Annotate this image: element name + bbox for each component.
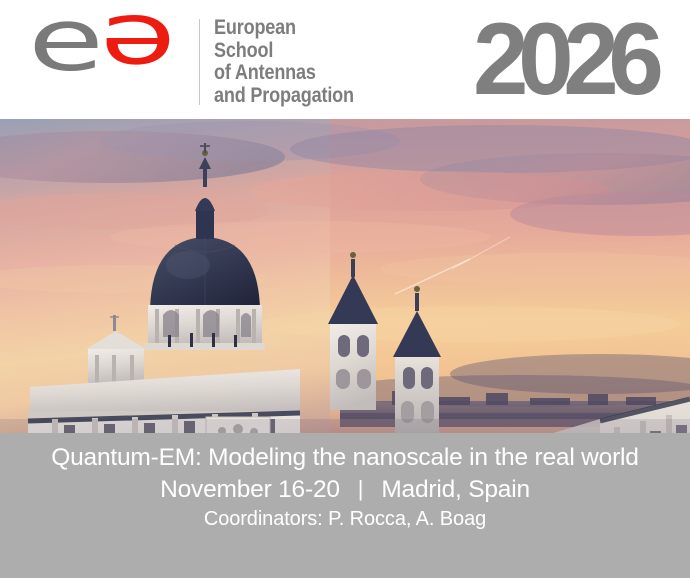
logo-red-e-icon: e: [102, 2, 176, 88]
course-when-where: November 16-20|Madrid, Spain: [0, 474, 690, 505]
org-line-4: and Propagation: [214, 85, 429, 108]
year-label: 2026: [473, 9, 654, 111]
logo-divider: [199, 19, 200, 105]
org-line-1: European: [214, 17, 429, 40]
esoa-logo-mark: e e: [28, 12, 188, 108]
banner-header: e e European School of Antennas and Prop…: [0, 0, 690, 119]
course-banner: e e European School of Antennas and Prop…: [0, 0, 690, 578]
org-line-3: of Antennas: [214, 62, 429, 85]
caption-bar: Quantum-EM: Modeling the nanoscale in th…: [0, 433, 690, 578]
org-line-2: School: [214, 40, 429, 63]
course-location: Madrid, Spain: [381, 476, 530, 503]
when-where-separator: |: [340, 473, 382, 504]
logo-gray-e-icon: e: [28, 0, 102, 84]
course-dates: November 16-20: [160, 476, 340, 503]
course-title: Quantum-EM: Modeling the nanoscale in th…: [0, 442, 690, 473]
course-coordinators: Coordinators: P. Rocca, A. Boag: [0, 506, 690, 532]
organization-name: European School of Antennas and Propagat…: [214, 17, 429, 107]
